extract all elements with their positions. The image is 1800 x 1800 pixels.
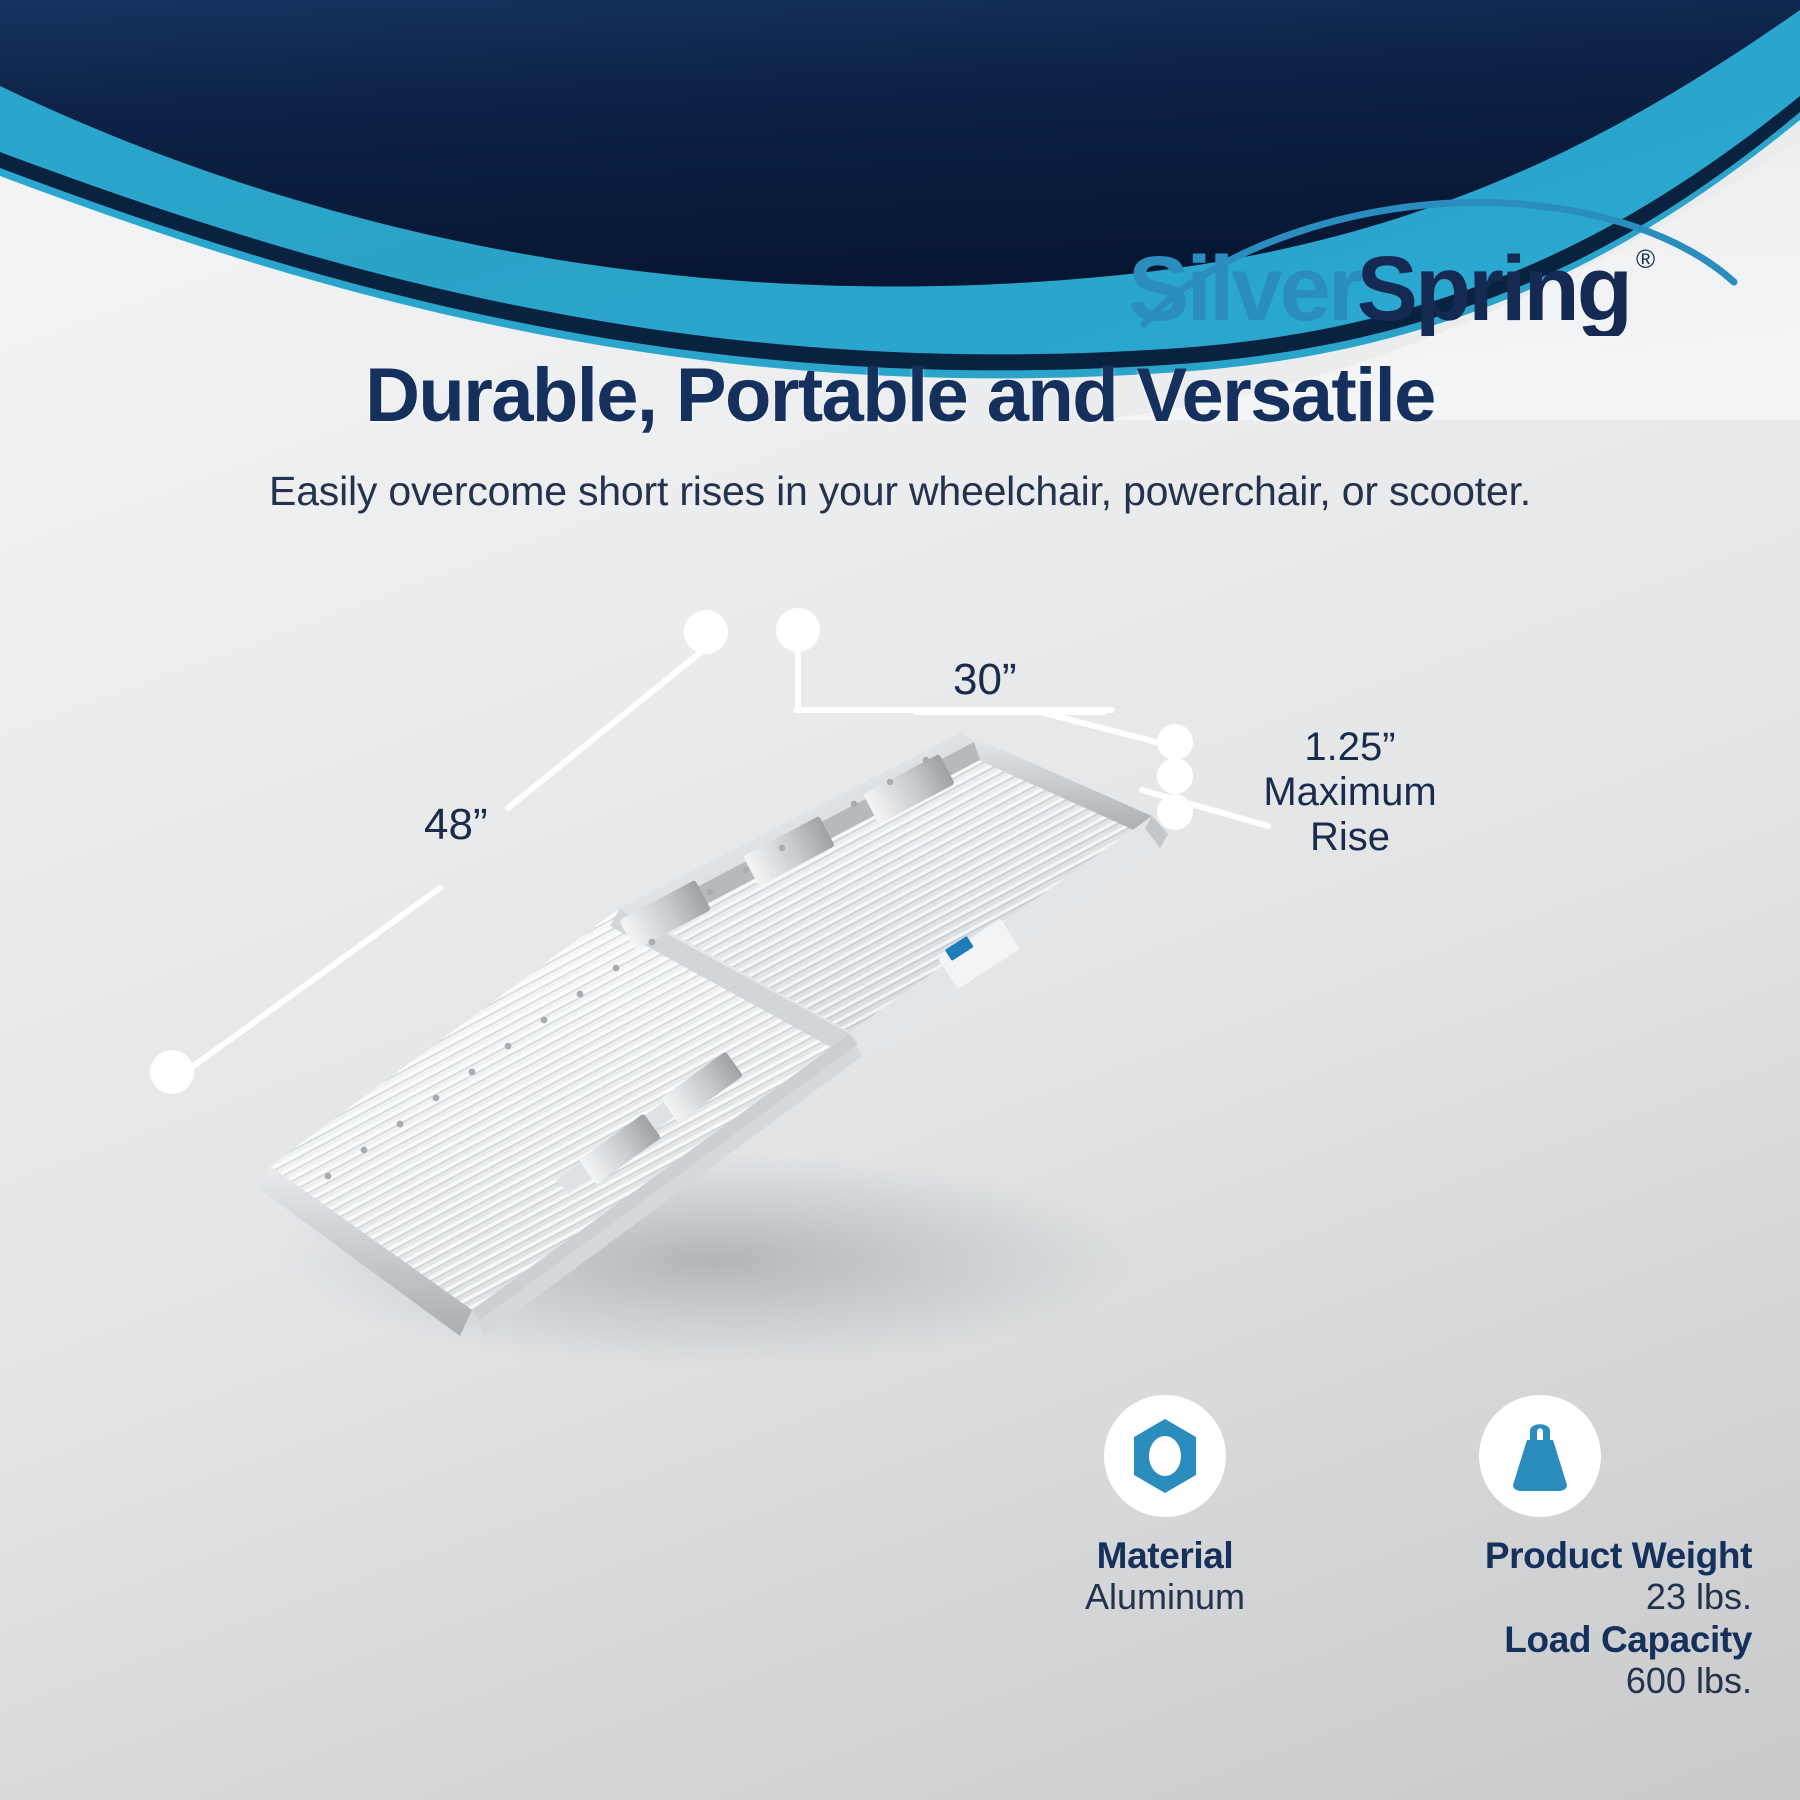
page-subtitle: Easily overcome short rises in your whee… bbox=[0, 468, 1800, 515]
spec-weight-title: Product Weight bbox=[1320, 1535, 1760, 1576]
spec-capacity-value: 600 lbs. bbox=[1320, 1660, 1760, 1702]
spec-material-title: Material bbox=[1000, 1535, 1330, 1576]
logo-text-silver: Silver bbox=[1128, 238, 1363, 336]
spec-weight-value: 23 lbs. bbox=[1320, 1576, 1760, 1618]
rise-label-line1: Maximum bbox=[1205, 770, 1495, 815]
product-image bbox=[150, 620, 1250, 1400]
rise-value: 1.25” bbox=[1205, 725, 1495, 770]
dimension-label-rise: 1.25” Maximum Rise bbox=[1205, 725, 1495, 859]
rise-label-line2: Rise bbox=[1205, 815, 1495, 860]
spec-material-badge bbox=[1104, 1395, 1226, 1517]
dimension-label-length: 48” bbox=[424, 800, 488, 850]
spec-weight-badge bbox=[1479, 1395, 1601, 1517]
brand-logo: Silver Spring ® bbox=[1120, 196, 1760, 336]
logo-registered-mark: ® bbox=[1636, 244, 1655, 274]
infographic-canvas: Silver Spring ® Durable, Portable and Ve… bbox=[0, 0, 1800, 1800]
page-title: Durable, Portable and Versatile bbox=[0, 352, 1800, 439]
spec-group: Material Aluminum Product Weight 23 lbs.… bbox=[980, 1395, 1770, 1755]
spec-capacity-title: Load Capacity bbox=[1320, 1619, 1760, 1660]
spec-material: Material Aluminum bbox=[1000, 1395, 1330, 1619]
logo-text-spring: Spring bbox=[1357, 238, 1630, 336]
dimension-label-width: 30” bbox=[953, 655, 1017, 705]
weight-icon bbox=[1497, 1413, 1583, 1499]
brand-logo-svg: Silver Spring ® bbox=[1120, 196, 1760, 336]
product-ramp-illustration bbox=[150, 620, 1250, 1400]
spec-weight: Product Weight 23 lbs. Load Capacity 600… bbox=[1320, 1395, 1760, 1703]
spec-material-value: Aluminum bbox=[1000, 1576, 1330, 1618]
hex-nut-icon bbox=[1122, 1413, 1208, 1499]
